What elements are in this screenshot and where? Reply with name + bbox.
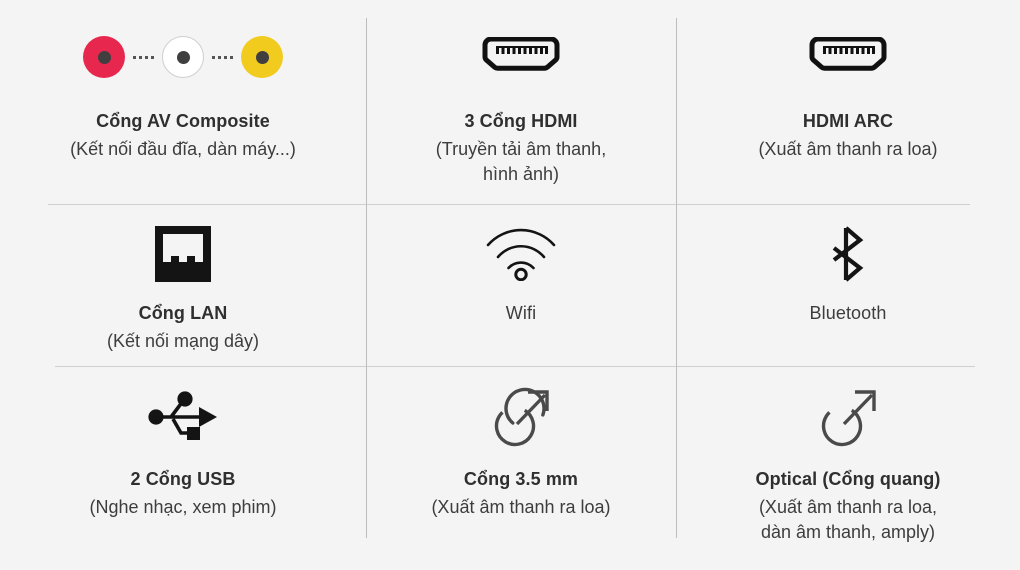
cable-dots-left [125,56,162,59]
feature-cell-jack-3-5mm: Cổng 3.5 mm (Xuất âm thanh ra loa) [366,366,676,570]
wifi-icon [484,222,558,286]
feature-subtitle-line2: dàn âm thanh, amply) [756,520,941,544]
feature-title: Wifi [506,302,536,326]
feature-cell-bluetooth: Bluetooth [676,204,1020,366]
lan-rj45-glyph [153,224,213,284]
feature-cell-optical: Optical (Cổng quang) (Xuất âm thanh ra l… [676,366,1020,570]
jack-3-5mm-icon [490,384,552,450]
usb-arrow [199,407,217,427]
feature-labels: HDMI ARC (Xuất âm thanh ra loa) [758,110,937,161]
usb-dot-top [177,391,192,406]
bluetooth-icon [827,222,869,286]
rca-jack-yellow-icon [241,36,283,78]
feature-title: Bluetooth [810,302,887,326]
bluetooth-glyph [827,225,869,283]
feature-labels: Cổng AV Composite (Kết nối đầu đĩa, dàn … [70,110,296,161]
hdmi-arc-port-icon [806,26,890,88]
optical-port-glyph [817,386,879,448]
feature-labels: 2 Cổng USB (Nghe nhạc, xem phim) [89,468,276,519]
feature-labels: Optical (Cổng quang) (Xuất âm thanh ra l… [756,468,941,545]
feature-labels: Cổng LAN (Kết nối mạng dây) [107,302,259,353]
lan-rj45-icon [153,222,213,286]
feature-title: Cổng AV Composite [70,110,296,134]
feature-cell-av-composite: Cổng AV Composite (Kết nối đầu đĩa, dàn … [0,0,366,204]
feature-subtitle: (Nghe nhạc, xem phim) [89,495,276,519]
feature-labels: Wifi [506,302,536,326]
feature-cell-wifi: Wifi [366,204,676,366]
rca-jack-red-icon [83,36,125,78]
rca-jack-white-icon [162,36,204,78]
usb-icon [147,384,219,450]
usb-square [187,427,200,440]
feature-subtitle-line2: hình ảnh) [436,162,606,186]
feature-subtitle-line1: (Xuất âm thanh ra loa, [756,495,941,519]
feature-subtitle-line1: (Truyền tải âm thanh, [436,137,606,161]
feature-title: HDMI ARC [758,110,937,134]
feature-title: Cổng LAN [107,302,259,326]
feature-cell-hdmi: 3 Cổng HDMI (Truyền tải âm thanh, hình ả… [366,0,676,204]
feature-title: 2 Cổng USB [89,468,276,492]
feature-subtitle: (Xuất âm thanh ra loa) [431,495,610,519]
feature-title: Optical (Cổng quang) [756,468,941,492]
feature-labels: 3 Cổng HDMI (Truyền tải âm thanh, hình ả… [436,110,606,187]
feature-labels: Cổng 3.5 mm (Xuất âm thanh ra loa) [431,468,610,519]
usb-dot-left [148,409,163,424]
feature-cell-lan: Cổng LAN (Kết nối mạng dây) [0,204,366,366]
feature-subtitle: (Xuất âm thanh ra loa) [758,137,937,161]
usb-glyph [147,389,219,445]
feature-title: Cổng 3.5 mm [431,468,610,492]
wifi-glyph [484,227,558,281]
feature-title: 3 Cổng HDMI [436,110,606,134]
hdmi-port-glyph [479,37,563,77]
connectivity-feature-board: Cổng AV Composite (Kết nối đầu đĩa, dàn … [0,0,1020,570]
hdmi-arc-port-glyph [806,37,890,77]
feature-grid: Cổng AV Composite (Kết nối đầu đĩa, dàn … [0,0,1020,570]
hdmi-port-icon [479,26,563,88]
feature-subtitle: (Kết nối đầu đĩa, dàn máy...) [70,137,296,161]
feature-cell-hdmi-arc: HDMI ARC (Xuất âm thanh ra loa) [676,0,1020,204]
optical-port-icon [817,384,879,450]
jack-3-5mm-glyph [490,386,552,448]
av-composite-icon [83,26,283,88]
feature-labels: Bluetooth [810,302,887,326]
cable-dots-right [204,56,241,59]
feature-cell-usb: 2 Cổng USB (Nghe nhạc, xem phim) [0,366,366,570]
feature-subtitle: (Kết nối mạng dây) [107,329,259,353]
